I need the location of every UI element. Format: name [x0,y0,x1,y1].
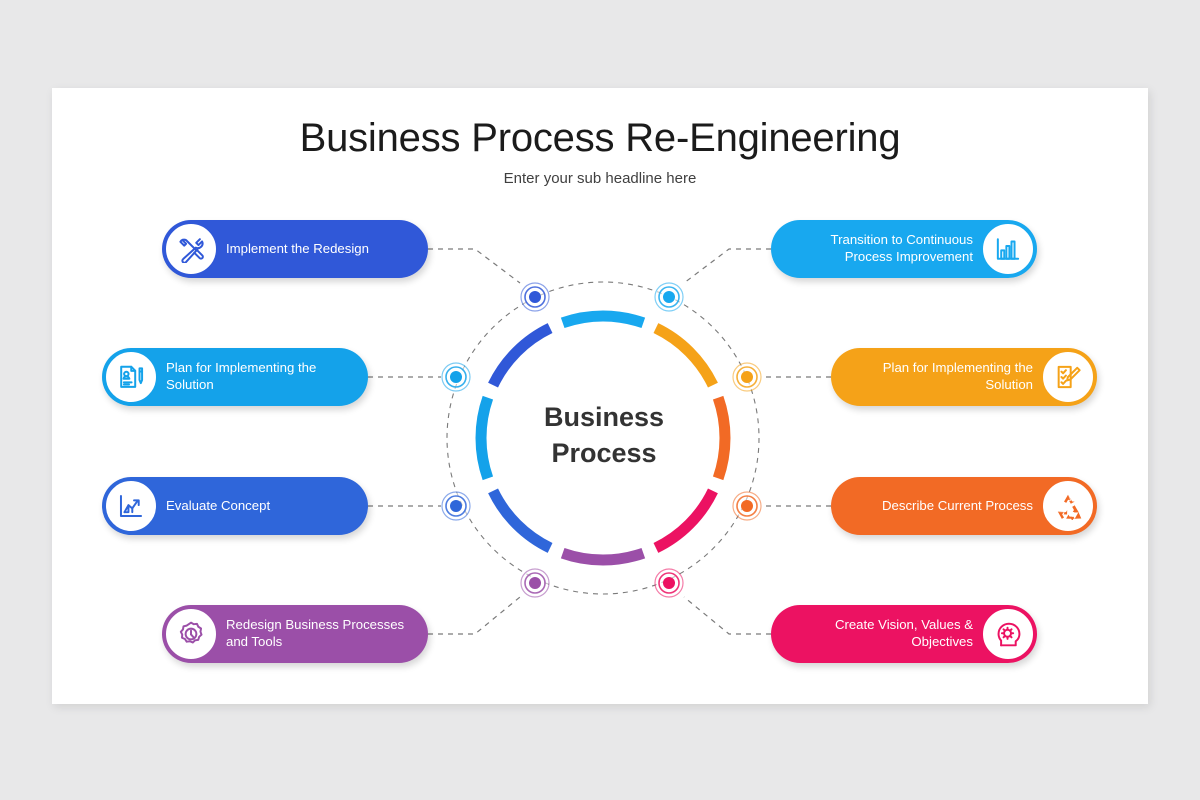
process-step-plan-for-implementing-the-solution-right[interactable]: Plan for Implementing the Solution [831,348,1097,406]
head-gear-icon-badge [981,607,1035,661]
growth-chart-icon-badge [104,479,158,533]
head-gear-icon [994,620,1022,648]
gear-icon-badge [164,607,218,661]
tools-icon [177,235,205,263]
bar-chart-icon [994,235,1022,263]
checklist-pencil-icon-badge [1041,350,1095,404]
connector-dot-describe-current-process [733,492,761,520]
connector-dot-transition-to-continuous-process-improvement [655,283,683,311]
tools-icon-badge [164,222,218,276]
center-label-line1: Business [474,400,734,436]
process-step-label: Transition to Continuous Process Improve… [787,232,973,266]
document-pen-icon [117,363,145,391]
growth-chart-icon [117,492,145,520]
process-step-evaluate-concept[interactable]: Evaluate Concept [102,477,368,535]
process-step-label: Create Vision, Values & Objectives [787,617,973,651]
process-step-plan-for-implementing-the-solution-left[interactable]: Plan for Implementing the Solution [102,348,368,406]
connector-dot-create-vision-values-objectives [655,569,683,597]
process-step-describe-current-process[interactable]: Describe Current Process [831,477,1097,535]
process-step-label: Plan for Implementing the Solution [166,360,352,394]
process-step-label: Describe Current Process [847,498,1033,515]
process-diagram: Business Process Implement the Redesign … [0,0,1200,800]
connector-dot-plan-for-implementing-the-solution-right [733,363,761,391]
process-step-create-vision-values-objectives[interactable]: Create Vision, Values & Objectives [771,605,1037,663]
center-label: Business Process [474,400,734,472]
gear-icon [177,620,205,648]
connector-dot-redesign-business-processes-and-tools [521,569,549,597]
process-step-label: Redesign Business Processes and Tools [226,617,412,651]
process-step-redesign-business-processes-and-tools[interactable]: Redesign Business Processes and Tools [162,605,428,663]
connector-dot-implement-the-redesign [521,283,549,311]
connector-dot-evaluate-concept [442,492,470,520]
checklist-pencil-icon [1054,363,1082,391]
process-step-label: Plan for Implementing the Solution [847,360,1033,394]
document-pen-icon-badge [104,350,158,404]
process-step-label: Implement the Redesign [226,241,412,258]
bar-chart-icon-badge [981,222,1035,276]
connector-dot-plan-for-implementing-the-solution-left [442,363,470,391]
recycle-icon [1054,492,1082,520]
center-label-line2: Process [474,436,734,472]
process-step-implement-the-redesign[interactable]: Implement the Redesign [162,220,428,278]
recycle-icon-badge [1041,479,1095,533]
process-step-transition-to-continuous-process-improvement[interactable]: Transition to Continuous Process Improve… [771,220,1037,278]
process-step-label: Evaluate Concept [166,498,352,515]
